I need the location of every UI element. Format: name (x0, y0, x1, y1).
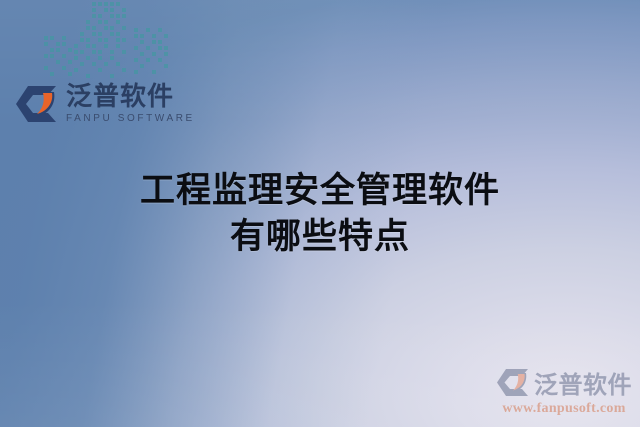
fanpu-hexagon-logo-icon (15, 84, 59, 124)
brand-logo: 泛普软件 FANPU SOFTWARE (15, 84, 195, 124)
page-title: 工程监理安全管理软件 有哪些特点 (0, 168, 640, 260)
page-title-line-1: 工程监理安全管理软件 (0, 168, 640, 214)
pixel-skyline-icon (34, 0, 174, 78)
watermark: 泛普软件 www.fanpusoft.com (496, 365, 632, 417)
brand-text-block: 泛普软件 FANPU SOFTWARE (66, 84, 195, 124)
brand-name-cn: 泛普软件 (66, 84, 195, 110)
fanpu-hexagon-logo-watermark-icon (496, 367, 530, 398)
brand-name-en: FANPU SOFTWARE (66, 114, 195, 124)
watermark-name-cn: 泛普软件 (534, 365, 632, 400)
watermark-url: www.fanpusoft.com (502, 401, 625, 417)
watermark-row: 泛普软件 (496, 365, 632, 400)
page-title-line-2: 有哪些特点 (0, 214, 640, 260)
promo-banner: 泛普软件 FANPU SOFTWARE 工程监理安全管理软件 有哪些特点 泛普软… (0, 0, 640, 427)
